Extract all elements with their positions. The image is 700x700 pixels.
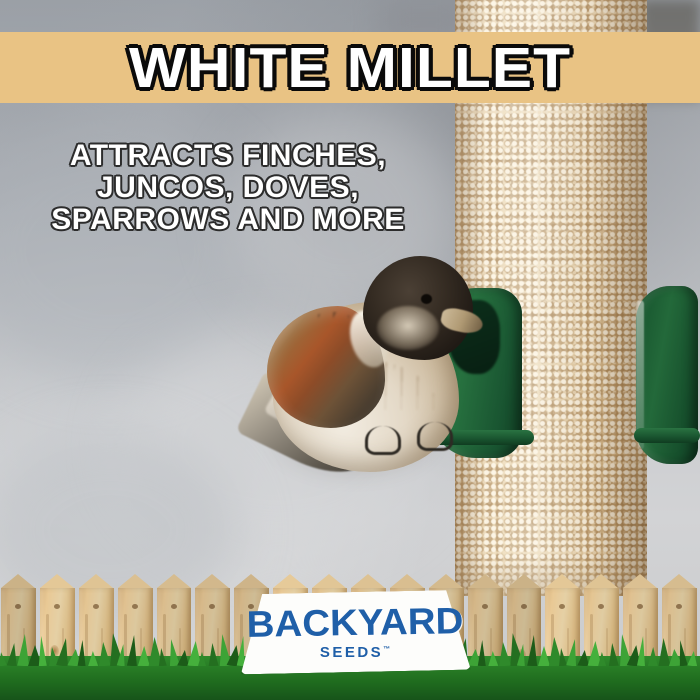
grass-blade bbox=[198, 652, 206, 666]
grass-blade bbox=[598, 652, 606, 666]
bird-foot bbox=[365, 426, 401, 455]
logo-subtext-label: SEEDS bbox=[320, 644, 383, 661]
brand-logo: BACKYARD SEEDS™ bbox=[240, 592, 470, 672]
grass-blade bbox=[117, 644, 128, 666]
bird-cheek-patch bbox=[377, 306, 439, 350]
grass-blade bbox=[637, 636, 647, 666]
trademark-icon: ™ bbox=[383, 646, 390, 653]
grass-blade bbox=[648, 647, 658, 666]
grass-blade bbox=[37, 636, 47, 666]
grass-blade bbox=[488, 651, 499, 666]
logo-subtext: SEEDS™ bbox=[240, 644, 470, 661]
subtitle-line-1: ATTRACTS FINCHES, bbox=[18, 140, 438, 172]
bird-eye bbox=[421, 294, 432, 304]
subtitle-line-2: JUNCOS, DOVES, bbox=[18, 172, 438, 204]
grass-blade bbox=[687, 651, 699, 666]
perched-sparrow bbox=[255, 250, 485, 510]
subtitle-line-3: SPARROWS AND MORE bbox=[18, 204, 438, 236]
bird-foot bbox=[417, 422, 453, 451]
product-image-card: WHITE MILLET ATTRACTS FINCHES, JUNCOS, D… bbox=[0, 0, 700, 700]
grass-blade bbox=[478, 640, 486, 666]
logo-wordmark: BACKYARD bbox=[235, 600, 475, 646]
subtitle-block: ATTRACTS FINCHES, JUNCOS, DOVES, SPARROW… bbox=[18, 140, 438, 235]
grass-blade bbox=[88, 651, 98, 666]
grass-blade bbox=[157, 648, 167, 666]
grass-blade bbox=[78, 640, 87, 666]
perch-bar-right bbox=[634, 428, 700, 443]
grass-blade bbox=[517, 644, 527, 666]
page-title: WHITE MILLET bbox=[0, 32, 700, 103]
